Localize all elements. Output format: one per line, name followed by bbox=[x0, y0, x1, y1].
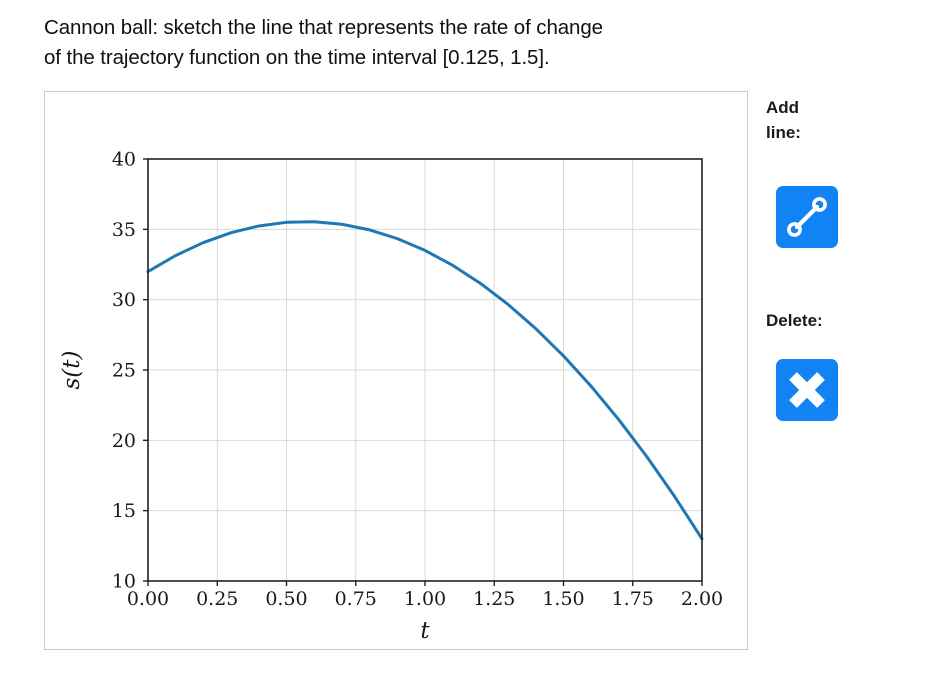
x-tick-label: 1.50 bbox=[542, 588, 584, 610]
plot-svg[interactable]: 0.000.250.500.751.001.251.501.752.001015… bbox=[45, 92, 747, 649]
delete-label-group: Delete: bbox=[766, 308, 826, 333]
question-prompt: Cannon ball: sketch the line that repres… bbox=[44, 13, 824, 73]
x-tick-label: 0.75 bbox=[335, 588, 377, 610]
x-tick-label: 0.50 bbox=[265, 588, 307, 610]
delete-label: Delete: bbox=[766, 308, 826, 333]
delete-button-wrapper bbox=[776, 359, 838, 421]
prompt-line-1: Cannon ball: sketch the line that repres… bbox=[44, 13, 824, 43]
x-tick-label: 1.25 bbox=[473, 588, 515, 610]
y-axis-label: s(t) bbox=[59, 351, 85, 390]
x-axis-label: t bbox=[420, 618, 430, 644]
sketch-canvas-panel[interactable]: 0.000.250.500.751.001.251.501.752.001015… bbox=[44, 91, 748, 650]
x-tick-label: 0.25 bbox=[196, 588, 238, 610]
y-tick-label: 10 bbox=[112, 571, 136, 593]
add-line-button[interactable] bbox=[776, 186, 838, 248]
y-tick-label: 15 bbox=[112, 500, 136, 522]
y-tick-label: 30 bbox=[112, 289, 136, 311]
x-tick-label: 1.00 bbox=[404, 588, 446, 610]
line-segment-icon bbox=[776, 186, 838, 248]
x-tick-label: 2.00 bbox=[681, 588, 723, 610]
add-line-label-second: line: bbox=[766, 120, 826, 145]
x-mark-icon bbox=[776, 359, 838, 421]
y-tick-label: 20 bbox=[112, 430, 136, 452]
x-tick-label: 1.75 bbox=[612, 588, 654, 610]
trajectory-plot[interactable]: 0.000.250.500.751.001.251.501.752.001015… bbox=[45, 92, 747, 649]
add-line-button-wrapper bbox=[776, 186, 838, 248]
y-tick-label: 25 bbox=[112, 360, 136, 382]
cannonball-exercise-page: Cannon ball: sketch the line that repres… bbox=[0, 0, 936, 674]
y-tick-label: 35 bbox=[112, 219, 136, 241]
y-tick-label: 40 bbox=[112, 149, 136, 171]
prompt-line-2: of the trajectory function on the time i… bbox=[44, 43, 824, 73]
delete-button[interactable] bbox=[776, 359, 838, 421]
add-line-label-first: Add bbox=[766, 95, 826, 120]
add-line-label-group: Add line: bbox=[766, 95, 826, 145]
